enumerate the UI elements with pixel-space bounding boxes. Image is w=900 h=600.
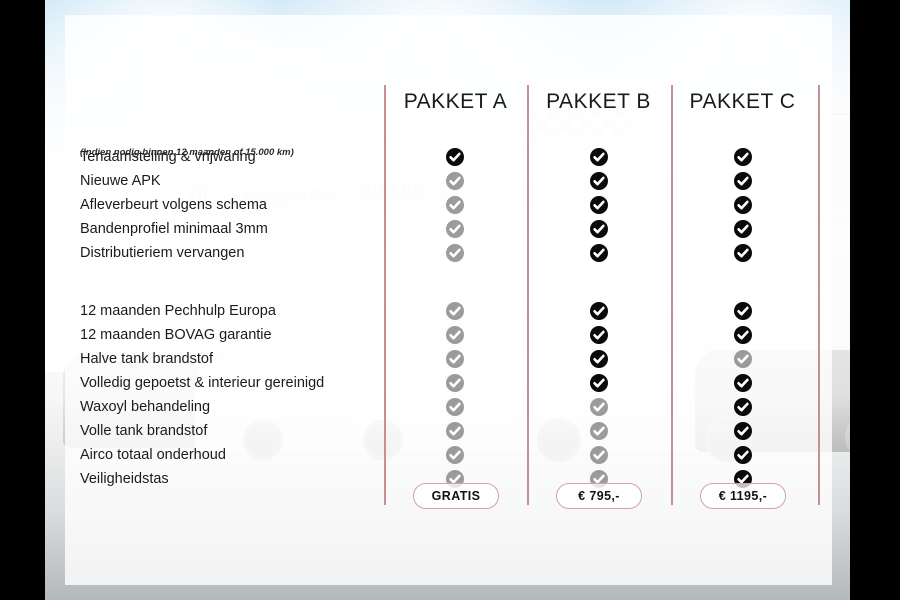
check-included-icon	[734, 172, 752, 190]
check-excluded-icon	[446, 326, 464, 344]
pricing-card: PAKKET A PAKKET B PAKKET C Tenaamstellin…	[65, 15, 832, 585]
check-excluded-icon	[590, 398, 608, 416]
package-comparison-table: PAKKET A PAKKET B PAKKET C Tenaamstellin…	[65, 15, 832, 585]
feature-label: Veiligheidstas	[80, 467, 169, 491]
letterbox-bar-left	[0, 0, 45, 600]
check-included-icon	[734, 302, 752, 320]
check-included-icon	[734, 422, 752, 440]
check-excluded-icon	[446, 350, 464, 368]
table-row: Nieuwe APK	[65, 169, 832, 193]
check-included-icon	[734, 398, 752, 416]
check-excluded-icon	[590, 446, 608, 464]
feature-label: 12 maanden BOVAG garantie	[80, 323, 272, 347]
check-included-icon	[734, 196, 752, 214]
table-header-row: PAKKET A PAKKET B PAKKET C	[384, 90, 818, 134]
table-row: 12 maanden Pechhulp Europa	[65, 299, 832, 323]
feature-label: 12 maanden Pechhulp Europa	[80, 299, 276, 323]
check-included-icon	[590, 302, 608, 320]
price-badge-pakket-a[interactable]: GRATIS	[413, 483, 499, 509]
row-group-spacer	[65, 283, 832, 299]
check-included-icon	[590, 326, 608, 344]
feature-note-row: (Indien nodig binnen 12 maanden of 15.00…	[65, 265, 832, 283]
check-included-icon	[590, 220, 608, 238]
check-included-icon	[590, 374, 608, 392]
check-excluded-icon	[734, 350, 752, 368]
table-row: Distributieriem vervangen	[65, 241, 832, 265]
feature-label: Volle tank brandstof	[80, 419, 207, 443]
column-header-pakket-a: PAKKET A	[384, 90, 527, 114]
check-included-icon	[590, 148, 608, 166]
check-included-icon	[590, 244, 608, 262]
feature-label: Airco totaal onderhoud	[80, 443, 226, 467]
table-row: 12 maanden BOVAG garantie	[65, 323, 832, 347]
check-excluded-icon	[590, 422, 608, 440]
check-included-icon	[590, 350, 608, 368]
check-excluded-icon	[446, 446, 464, 464]
column-header-pakket-c: PAKKET C	[671, 90, 814, 114]
check-excluded-icon	[446, 196, 464, 214]
table-row: Waxoyl behandeling	[65, 395, 832, 419]
slide-stage: VAKGARAGE GIELEN PAKKET A PAKKET B	[0, 0, 900, 600]
feature-label: Distributieriem vervangen	[80, 241, 244, 265]
check-excluded-icon	[446, 244, 464, 262]
feature-label: Nieuwe APK	[80, 169, 161, 193]
check-excluded-icon	[446, 220, 464, 238]
feature-label: Bandenprofiel minimaal 3mm	[80, 217, 268, 241]
check-excluded-icon	[446, 172, 464, 190]
table-row: Volledig gepoetst & interieur gereinigd	[65, 371, 832, 395]
price-row: GRATIS € 795,- € 1195,-	[384, 483, 818, 517]
check-excluded-icon	[446, 374, 464, 392]
table-row: Volle tank brandstof	[65, 419, 832, 443]
column-header-pakket-b: PAKKET B	[527, 90, 670, 114]
check-included-icon	[734, 244, 752, 262]
price-badge-pakket-b[interactable]: € 795,-	[556, 483, 642, 509]
check-included-icon	[734, 374, 752, 392]
table-row: Halve tank brandstof	[65, 347, 832, 371]
feature-note: (Indien nodig binnen 12 maanden of 15.00…	[80, 145, 294, 161]
table-row: Airco totaal onderhoud	[65, 443, 832, 467]
check-included-icon	[734, 326, 752, 344]
check-included-icon	[734, 220, 752, 238]
check-included-icon	[590, 196, 608, 214]
table-row: Afleverbeurt volgens schema	[65, 193, 832, 217]
price-badge-pakket-c[interactable]: € 1195,-	[700, 483, 786, 509]
feature-label: Afleverbeurt volgens schema	[80, 193, 267, 217]
letterbox-bar-right	[850, 0, 900, 600]
check-excluded-icon	[446, 302, 464, 320]
check-included-icon	[446, 148, 464, 166]
feature-label: Volledig gepoetst & interieur gereinigd	[80, 371, 324, 395]
check-included-icon	[734, 446, 752, 464]
check-included-icon	[590, 172, 608, 190]
feature-label: Waxoyl behandeling	[80, 395, 210, 419]
feature-rows: Tenaamstelling & vrijwaringNieuwe APKAfl…	[65, 145, 832, 491]
check-excluded-icon	[446, 398, 464, 416]
table-row: Bandenprofiel minimaal 3mm	[65, 217, 832, 241]
check-excluded-icon	[446, 422, 464, 440]
check-included-icon	[734, 148, 752, 166]
feature-label: Halve tank brandstof	[80, 347, 213, 371]
